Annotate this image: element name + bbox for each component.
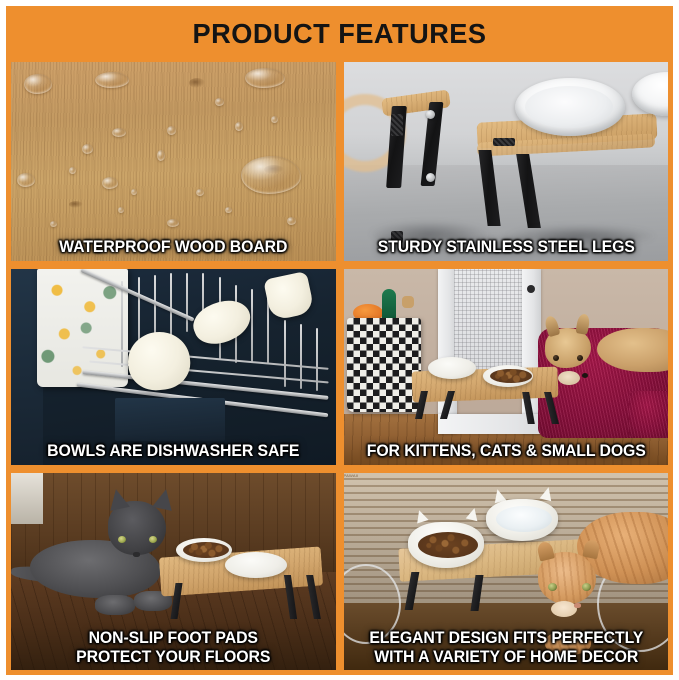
caption-line-1: NON-SLIP FOOT PADS [21, 629, 325, 648]
panel-caption: BOWLS ARE DISHWASHER SAFE [17, 442, 329, 461]
orange-frame: PRODUCT FEATURES [6, 6, 673, 675]
caption-line-2: WITH A VARIETY OF HOME DECOR [354, 648, 658, 667]
photo-dishwasher [11, 269, 336, 465]
photo-wood-board [11, 62, 336, 261]
panel-caption: WATERPROOF WOOD BOARD [17, 238, 329, 257]
feature-panel-waterproof-wood-board[interactable]: WATERPROOF WOOD BOARD [11, 62, 336, 261]
feature-panel-elegant-design-home-decor[interactable]: PAWAII [344, 473, 669, 670]
product-features-infographic: PRODUCT FEATURES [0, 0, 679, 680]
panel-caption: FOR KITTENS, CATS & SMALL DOGS [350, 442, 662, 461]
page-title: PRODUCT FEATURES [193, 18, 487, 50]
feature-panel-for-kittens-cats-small-dogs[interactable]: FOR KITTENS, CATS & SMALL DOGS [344, 269, 669, 465]
feature-panel-non-slip-foot-pads[interactable]: NON-SLIP FOOT PADS PROTECT YOUR FLOORS [11, 473, 336, 670]
caption-line-1: ELEGANT DESIGN FITS PERFECTLY [354, 629, 658, 648]
header-bar: PRODUCT FEATURES [6, 6, 673, 62]
brand-mark: PAWAII [344, 473, 359, 478]
feature-panel-sturdy-stainless-steel-legs[interactable]: STURDY STAINLESS STEEL LEGS [344, 62, 669, 261]
feature-panel-bowls-are-dishwasher-safe[interactable]: BOWLS ARE DISHWASHER SAFE [11, 269, 336, 465]
caption-line-2: PROTECT YOUR FLOORS [21, 648, 325, 667]
panel-caption: NON-SLIP FOOT PADS PROTECT YOUR FLOORS [17, 629, 329, 667]
feature-grid: WATERPROOF WOOD BOARD [6, 62, 673, 675]
feature-row-3: NON-SLIP FOOT PADS PROTECT YOUR FLOORS [6, 473, 673, 670]
panel-caption: STURDY STAINLESS STEEL LEGS [350, 238, 662, 257]
feature-row-1: WATERPROOF WOOD BOARD [6, 62, 673, 261]
photo-kittens-cats-dogs [344, 269, 669, 465]
panel-caption: ELEGANT DESIGN FITS PERFECTLY WITH A VAR… [350, 629, 662, 667]
feature-row-2: BOWLS ARE DISHWASHER SAFE [6, 269, 673, 465]
photo-steel-legs [344, 62, 669, 261]
